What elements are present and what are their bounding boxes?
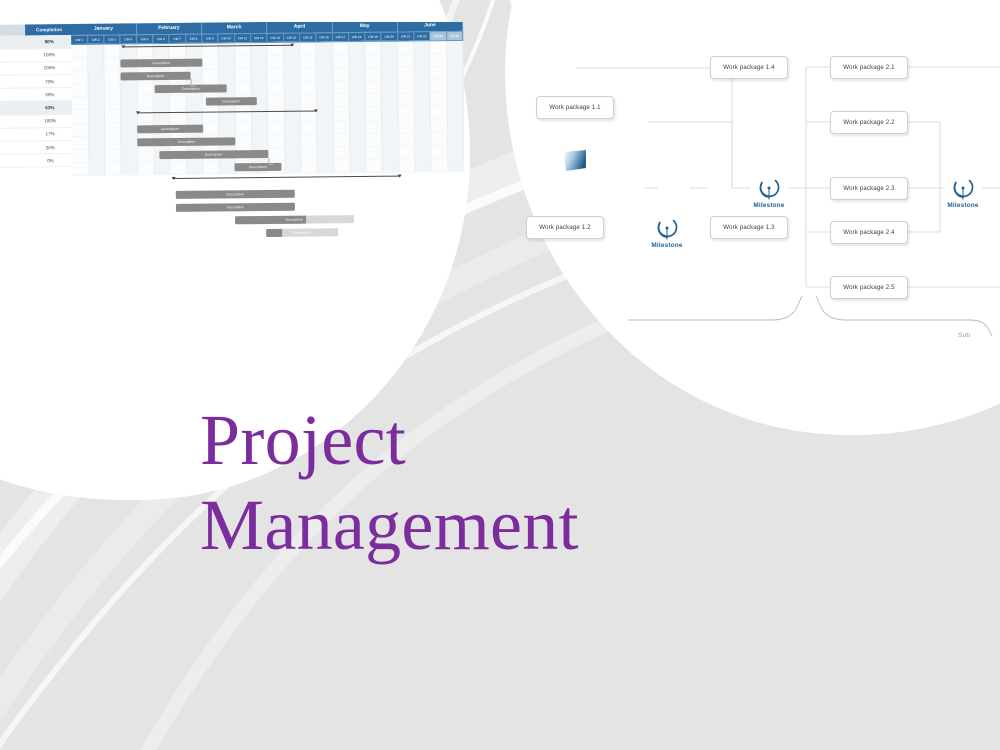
gantt-completion-value: 70%	[26, 75, 74, 89]
gantt-summary-bar	[137, 110, 317, 116]
gantt-bar-label: Description	[249, 165, 267, 169]
gantt-week-label: CW 11	[234, 33, 250, 42]
gantt-week-label: CW 1	[71, 35, 87, 44]
gantt-week-label: CW 5	[136, 34, 152, 43]
work-package-box[interactable]: Work package 2.2	[830, 111, 908, 134]
gantt-summary-bar	[172, 175, 401, 181]
gantt-month-label: January	[71, 23, 136, 35]
work-package-box[interactable]: Work package 2.4	[830, 221, 908, 244]
gantt-completion-value: 20%	[26, 140, 74, 154]
work-package-box[interactable]: Work package 2.5	[830, 276, 908, 299]
gantt-task-bar[interactable]: Description	[176, 189, 295, 198]
gantt-task-name: Task 2.4	[0, 154, 27, 168]
gantt-week-label: CW 14	[283, 33, 299, 42]
page-title-line-1: Project	[200, 398, 760, 483]
milestone-c[interactable]: Milestone	[946, 175, 980, 209]
gantt-task-row: Task 2.320%	[0, 140, 74, 154]
gantt-month-label: March	[201, 22, 266, 34]
gantt-week-label: CW 23	[430, 31, 446, 40]
gantt-bars-layer: DescriptionDescriptionDescriptionDescrip…	[71, 40, 464, 262]
work-package-box[interactable]: Work package 1.3	[710, 216, 788, 239]
gantt-bar-label: Description	[178, 140, 196, 144]
gantt-bar-label: Description	[227, 205, 245, 209]
gantt-task-bar[interactable]: Description	[266, 228, 338, 237]
gantt-month-label: February	[136, 23, 201, 35]
gantt-week-label: CW 20	[381, 32, 397, 41]
gantt-week-label: CW 10	[218, 33, 234, 42]
gantt-task-rows: Phase 180%Task 1.1100%Task 1.2100%Task 1…	[0, 35, 75, 168]
gantt-completion-value: 80%	[25, 35, 73, 49]
gantt-chart: Task Completion Phase 180%Task 1.1100%Ta…	[0, 22, 464, 262]
gantt-task-bar[interactable]: Description	[137, 124, 202, 133]
gantt-bar-label: Description	[152, 61, 170, 65]
gantt-week-label: CW 4	[120, 34, 136, 43]
gantt-task-name: Task 1.4	[0, 88, 26, 102]
milestone-a[interactable]: Milestone	[650, 215, 684, 249]
blue-arrow-shape	[560, 146, 590, 176]
milestone-b[interactable]: Milestone	[752, 175, 786, 209]
gantt-col-completion: Completion	[25, 24, 73, 36]
gantt-bar-label: Description	[222, 99, 240, 103]
gantt-week-label: CW 16	[316, 32, 332, 41]
gantt-bar-label: Description	[286, 218, 304, 222]
gantt-task-row: Task 1.430%	[0, 88, 74, 102]
gantt-week-label: CW 3	[104, 35, 120, 44]
gantt-task-bar[interactable]: Description	[206, 97, 257, 106]
gantt-task-row: Phase 180%	[0, 35, 73, 49]
subproject-label: Sub	[958, 332, 970, 339]
gantt-week-label: CW 9	[202, 33, 218, 42]
gantt-bar-label: Description	[226, 192, 244, 196]
page-title: Project Management	[200, 398, 760, 568]
gantt-task-bar[interactable]: Description	[176, 202, 295, 211]
gantt-completion-value: 100%	[25, 61, 73, 75]
work-package-box[interactable]: Work package 1.4	[710, 56, 788, 79]
gantt-week-label: CW 6	[153, 34, 169, 43]
gantt-task-name: Task 2.2	[0, 128, 26, 142]
work-package-box[interactable]: Work package 1.1	[536, 96, 614, 119]
gantt-week-label: CW 24	[446, 31, 462, 40]
gantt-completion-value: 100%	[25, 48, 73, 62]
work-breakdown-diagram: Work package 1.1 Work package 1.2 Work p…	[540, 40, 1000, 330]
gantt-bar-label: Description	[147, 74, 165, 78]
gantt-completion-value: 30%	[26, 88, 74, 102]
gantt-summary-bar	[122, 44, 294, 50]
gantt-col-task: Task	[0, 24, 25, 36]
gantt-week-label: CW 13	[267, 33, 283, 42]
gantt-week-label: CW 7	[169, 34, 185, 43]
gantt-task-table: Task Completion Phase 180%Task 1.1100%Ta…	[0, 24, 75, 169]
gantt-week-label: CW 2	[87, 35, 103, 44]
gantt-completion-value: 0%	[26, 154, 74, 168]
gantt-week-label: CW 15	[299, 32, 315, 41]
gantt-completion-value: 63%	[26, 101, 74, 115]
gantt-task-bar[interactable]: Description	[159, 150, 269, 159]
milestone-label: Milestone	[650, 242, 684, 249]
gantt-week-label: CW 21	[397, 31, 413, 40]
gantt-task-bar[interactable]: Description	[235, 215, 354, 224]
gantt-completion-value: 17%	[26, 127, 74, 141]
work-package-box[interactable]: Work package 2.3	[830, 177, 908, 200]
gantt-week-label: CW 12	[251, 33, 267, 42]
gantt-week-label: CW 22	[414, 31, 430, 40]
gantt-task-name: Task 2.3	[0, 141, 26, 155]
gantt-task-name: Task 2.1	[0, 115, 26, 129]
gantt-dependency-link	[191, 79, 196, 86]
gantt-task-bar[interactable]: Description	[138, 137, 236, 146]
gantt-week-label: CW 17	[332, 32, 348, 41]
milestone-icon	[654, 215, 680, 241]
gantt-week-label: CW 19	[365, 32, 381, 41]
gantt-task-name: Task 1.1	[0, 49, 25, 63]
work-package-box[interactable]: Work package 2.1	[830, 56, 908, 79]
gantt-task-name: Task 1.2	[0, 62, 26, 76]
gantt-task-bar[interactable]: Description	[120, 58, 202, 67]
gantt-bar-progress	[266, 229, 282, 237]
gantt-task-row: Task 2.1100%	[0, 114, 74, 128]
gantt-task-name: Phase 2	[0, 101, 26, 115]
gantt-task-row: Task 1.2100%	[0, 61, 74, 75]
gantt-bar-label: Description	[205, 152, 223, 156]
gantt-task-bar[interactable]: Description	[234, 163, 281, 172]
gantt-task-row: Task 1.370%	[0, 75, 74, 89]
gantt-task-name: Task 1.3	[0, 75, 26, 89]
milestone-label: Milestone	[752, 202, 786, 209]
gantt-task-bar[interactable]: Description	[121, 71, 191, 80]
gantt-month-label: April	[267, 22, 332, 33]
gantt-bar-label: Description	[293, 231, 311, 235]
gantt-completion-value: 100%	[26, 114, 74, 128]
gantt-dependency-link	[268, 157, 273, 164]
gantt-task-row: Task 2.217%	[0, 127, 74, 141]
gantt-bar-label: Description	[161, 126, 179, 130]
gantt-task-row: Task 2.40%	[0, 154, 75, 168]
milestone-icon	[950, 175, 976, 201]
work-package-box[interactable]: Work package 1.2	[526, 216, 604, 239]
milestone-label: Milestone	[946, 202, 980, 209]
milestone-icon	[756, 175, 782, 201]
gantt-week-label: CW 8	[185, 34, 201, 43]
page-title-line-2: Management	[200, 483, 760, 568]
gantt-task-row: Phase 263%	[0, 101, 74, 115]
gantt-task-row: Task 1.1100%	[0, 48, 73, 62]
gantt-task-name: Phase 1	[0, 35, 25, 49]
gantt-week-label: CW 18	[348, 32, 364, 41]
gantt-bar-label: Description	[182, 87, 200, 91]
